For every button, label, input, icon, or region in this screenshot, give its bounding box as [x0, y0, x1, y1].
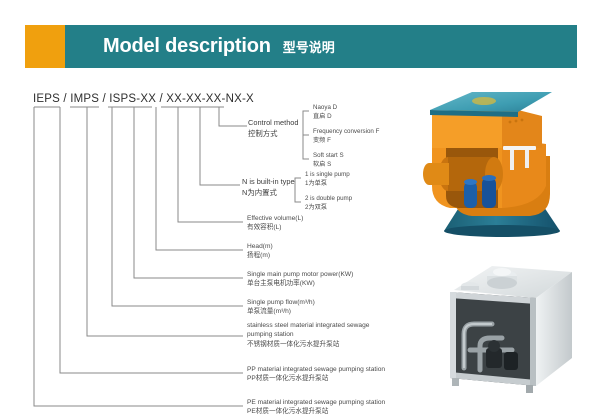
branch-label-pp-material: PP material integrated sewage pumping st…	[247, 365, 385, 384]
model-description-diagram: IEPS / IMPS / ISPS-XX / XX-XX-XX-NX-X Co…	[0, 78, 600, 416]
page-title-zh: 型号说明	[283, 37, 335, 56]
branch-label-effective-volume: Effective volume(L) 有效容积(L)	[247, 214, 303, 233]
branch-label-stainless-steel: stainless steel material integrated sewa…	[247, 321, 375, 349]
option-single-pump: 1 is single pump 1为单泵	[305, 171, 350, 188]
branch-label-built-in-type: N is built-in type N为内置式	[242, 177, 295, 198]
header-accent-block	[25, 25, 65, 68]
orange-pump-station-image	[410, 86, 590, 246]
option-double-pump: 2 is double pump 2为双泵	[305, 195, 352, 212]
branch-label-pump-flow: Single pump flow(m³/h) 单泵流量(m³/h)	[247, 298, 315, 317]
option-frequency-conversion-f: Frequency conversion F 变频 F	[313, 128, 379, 145]
stainless-steel-station-image	[440, 250, 595, 410]
model-code-string: IEPS / IMPS / ISPS-XX / XX-XX-XX-NX-X	[33, 93, 254, 105]
page-title-en: Model description	[103, 35, 271, 58]
branch-label-head: Head(m) 扬程(m)	[247, 242, 273, 261]
header-title-bar: Model description 型号说明	[65, 25, 577, 68]
branch-label-motor-power: Single main pump motor power(KW) 单台主泵电机功…	[247, 270, 353, 289]
page-header-banner: Model description 型号说明	[25, 25, 577, 68]
branch-label-pe-material: PE material integrated sewage pumping st…	[247, 398, 385, 417]
option-naoya-d: Naoya D 直启 D	[313, 104, 337, 121]
branch-label-control-method: Control method 控制方式	[248, 118, 299, 139]
option-soft-start-s: Soft start S 软启 S	[313, 152, 344, 169]
